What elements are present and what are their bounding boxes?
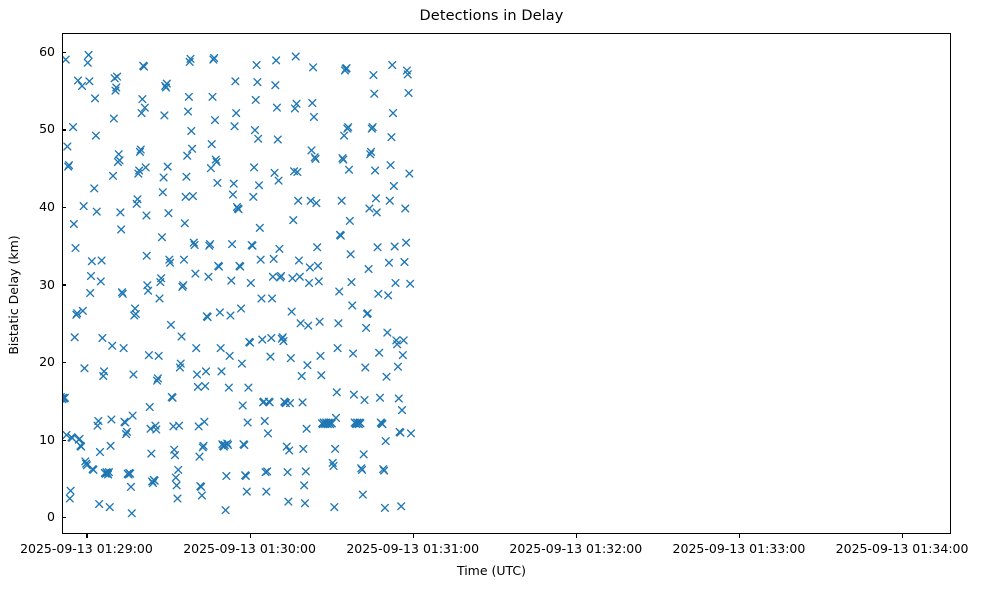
scatter-marker bbox=[257, 256, 264, 263]
scatter-marker bbox=[70, 221, 77, 228]
plot-area bbox=[62, 33, 951, 534]
scatter-marker bbox=[374, 244, 381, 251]
scatter-marker bbox=[165, 210, 172, 217]
scatter-marker bbox=[172, 474, 179, 481]
scatter-marker bbox=[259, 336, 266, 343]
scatter-marker bbox=[256, 224, 263, 231]
scatter-marker bbox=[231, 123, 238, 130]
scatter-marker bbox=[311, 114, 318, 121]
scatter-marker bbox=[284, 469, 291, 476]
scatter-marker bbox=[276, 245, 283, 252]
scatter-marker bbox=[243, 488, 250, 495]
scatter-marker bbox=[336, 288, 343, 295]
scatter-marker bbox=[99, 335, 106, 342]
scatter-marker bbox=[230, 191, 237, 198]
scatter-marker bbox=[148, 450, 155, 457]
scatter-marker bbox=[392, 280, 399, 287]
scatter-marker bbox=[365, 266, 372, 273]
scatter-marker bbox=[350, 350, 357, 357]
scatter-marker bbox=[305, 322, 312, 329]
scatter-marker bbox=[395, 363, 402, 370]
scatter-marker bbox=[214, 180, 221, 187]
scatter-marker bbox=[159, 234, 166, 241]
scatter-marker bbox=[228, 277, 235, 284]
x-tick-label: 2025-09-13 01:34:00 bbox=[836, 541, 969, 556]
scatter-marker bbox=[185, 93, 192, 100]
scatter-marker bbox=[230, 180, 237, 187]
scatter-marker bbox=[194, 371, 201, 378]
scatter-marker bbox=[250, 193, 257, 200]
scatter-marker bbox=[96, 501, 103, 508]
scatter-marker bbox=[238, 360, 245, 367]
y-tick-label: 60 bbox=[39, 44, 55, 59]
scatter-marker bbox=[390, 183, 397, 190]
scatter-marker bbox=[383, 373, 390, 380]
scatter-marker bbox=[387, 162, 394, 169]
scatter-marker bbox=[375, 290, 382, 297]
scatter-marker bbox=[92, 95, 99, 102]
scatter-marker bbox=[275, 177, 282, 184]
scatter-marker bbox=[315, 278, 322, 285]
scatter-marker bbox=[405, 90, 412, 97]
scatter-marker bbox=[306, 280, 313, 287]
scatter-marker bbox=[390, 110, 397, 117]
scatter-marker bbox=[289, 275, 296, 282]
scatter-marker bbox=[348, 279, 355, 286]
scatter-marker bbox=[155, 352, 162, 359]
scatter-marker bbox=[85, 52, 92, 59]
scatter-marker bbox=[184, 152, 191, 159]
scatter-marker bbox=[226, 352, 233, 359]
scatter-marker bbox=[316, 318, 323, 325]
scatter-marker bbox=[371, 90, 378, 97]
scatter-marker bbox=[181, 220, 188, 227]
scatter-marker bbox=[296, 273, 303, 280]
scatter-marker bbox=[106, 504, 113, 511]
scatter-marker bbox=[159, 189, 166, 196]
scatter-marker bbox=[317, 352, 324, 359]
scatter-marker bbox=[377, 394, 384, 401]
scatter-marker bbox=[407, 280, 414, 287]
scatter-marker bbox=[309, 100, 316, 107]
scatter-marker bbox=[188, 128, 195, 135]
scatter-marker bbox=[295, 197, 302, 204]
scatter-marker bbox=[196, 453, 203, 460]
scatter-marker bbox=[117, 209, 124, 216]
scatter-marker bbox=[63, 56, 69, 63]
scatter-marker bbox=[208, 141, 215, 148]
scatter-marker bbox=[146, 404, 153, 411]
scatter-marker bbox=[114, 73, 121, 80]
scatter-marker bbox=[402, 205, 409, 212]
scatter-marker bbox=[239, 402, 246, 409]
scatter-marker bbox=[341, 132, 348, 139]
scatter-marker bbox=[110, 115, 117, 122]
scatter-marker bbox=[145, 287, 152, 294]
scatter-marker bbox=[256, 182, 263, 189]
scatter-marker bbox=[88, 258, 95, 265]
scatter-marker bbox=[245, 384, 252, 391]
scatter-marker bbox=[217, 345, 224, 352]
scatter-marker bbox=[223, 473, 230, 480]
scatter-marker bbox=[75, 77, 82, 84]
scatter-marker bbox=[333, 414, 340, 421]
scatter-marker bbox=[79, 307, 86, 314]
scatter-marker bbox=[254, 79, 261, 86]
scatter-marker bbox=[296, 257, 303, 264]
scatter-marker bbox=[107, 442, 114, 449]
scatter-marker bbox=[384, 329, 391, 336]
scatter-marker bbox=[129, 412, 136, 419]
scatter-marker bbox=[274, 136, 281, 143]
scatter-marker bbox=[346, 218, 353, 225]
scatter-marker bbox=[120, 345, 127, 352]
scatter-marker bbox=[79, 83, 86, 90]
scatter-marker bbox=[366, 205, 373, 212]
scatter-marker bbox=[190, 193, 197, 200]
scatter-marker bbox=[335, 320, 342, 327]
scatter-marker bbox=[95, 418, 102, 425]
scatter-marker bbox=[168, 321, 175, 328]
y-tick-label: 20 bbox=[39, 354, 55, 369]
x-tick-label: 2025-09-13 01:31:00 bbox=[346, 541, 479, 556]
scatter-marker bbox=[72, 245, 79, 252]
scatter-marker bbox=[370, 72, 377, 79]
scatter-marker bbox=[67, 487, 74, 494]
scatter-marker bbox=[318, 372, 325, 379]
x-tick-label: 2025-09-13 01:30:00 bbox=[183, 541, 316, 556]
scatter-marker bbox=[232, 78, 239, 85]
scatter-marker bbox=[97, 449, 104, 456]
scatter-marker bbox=[386, 259, 393, 266]
scatter-marker bbox=[292, 53, 299, 60]
y-tick-label: 50 bbox=[39, 121, 55, 136]
matplotlib-figure: Detections in Delay Bistatic Delay (km) … bbox=[0, 0, 983, 590]
scatter-marker bbox=[403, 239, 410, 246]
scatter-marker bbox=[258, 295, 265, 302]
scatter-marker bbox=[70, 124, 77, 131]
y-tick-label: 30 bbox=[39, 277, 55, 292]
scatter-marker bbox=[252, 97, 259, 104]
scatter-marker bbox=[161, 112, 168, 119]
scatter-series bbox=[63, 34, 951, 534]
x-tick-mark bbox=[250, 534, 251, 538]
scatter-marker bbox=[143, 252, 150, 259]
x-tick-mark bbox=[576, 534, 577, 538]
scatter-marker bbox=[233, 110, 240, 117]
scatter-marker bbox=[406, 170, 413, 177]
scatter-marker bbox=[349, 302, 356, 309]
scatter-marker bbox=[98, 257, 105, 264]
scatter-marker bbox=[80, 203, 87, 210]
scatter-marker bbox=[66, 495, 73, 502]
scatter-marker bbox=[267, 353, 274, 360]
y-tick-label: 40 bbox=[39, 199, 55, 214]
scatter-marker bbox=[362, 364, 369, 371]
scatter-marker bbox=[139, 96, 146, 103]
scatter-marker bbox=[263, 488, 270, 495]
scatter-marker bbox=[304, 362, 311, 369]
scatter-marker bbox=[302, 500, 309, 507]
scatter-marker bbox=[287, 355, 294, 362]
scatter-marker bbox=[269, 273, 276, 280]
scatter-marker bbox=[142, 164, 149, 171]
scatter-marker bbox=[205, 273, 212, 280]
scatter-marker bbox=[128, 510, 135, 517]
scatter-marker bbox=[238, 305, 245, 312]
scatter-marker bbox=[391, 243, 398, 250]
scatter-marker bbox=[185, 108, 192, 115]
scatter-marker bbox=[178, 333, 185, 340]
scatter-marker bbox=[109, 342, 116, 349]
scatter-marker bbox=[134, 196, 141, 203]
scatter-marker bbox=[181, 256, 188, 263]
scatter-marker bbox=[156, 295, 163, 302]
scatter-marker bbox=[146, 352, 153, 359]
scatter-marker bbox=[247, 280, 254, 287]
x-tick-label: 2025-09-13 01:32:00 bbox=[509, 541, 642, 556]
scatter-marker bbox=[401, 259, 408, 266]
scatter-marker bbox=[192, 270, 199, 277]
y-tick-label: 0 bbox=[47, 509, 55, 524]
x-tick-label: 2025-09-13 01:29:00 bbox=[20, 541, 153, 556]
scatter-marker bbox=[189, 145, 196, 152]
scatter-marker bbox=[288, 308, 295, 315]
scatter-marker bbox=[350, 391, 357, 398]
scatter-marker bbox=[398, 503, 405, 510]
scatter-marker bbox=[363, 325, 370, 332]
scatter-marker bbox=[175, 466, 182, 473]
scatter-marker bbox=[359, 491, 366, 498]
scatter-marker bbox=[87, 290, 94, 297]
scatter-marker bbox=[399, 352, 406, 359]
scatter-marker bbox=[130, 371, 137, 378]
scatter-marker bbox=[199, 492, 206, 499]
scatter-marker bbox=[332, 446, 339, 453]
scatter-marker bbox=[299, 399, 306, 406]
scatter-marker bbox=[273, 57, 280, 64]
scatter-marker bbox=[338, 197, 345, 204]
scatter-marker bbox=[373, 209, 380, 216]
scatter-marker bbox=[201, 418, 208, 425]
scatter-marker bbox=[290, 217, 297, 224]
scatter-marker bbox=[251, 164, 258, 171]
y-axis-label: Bistatic Delay (km) bbox=[6, 235, 21, 354]
scatter-marker bbox=[93, 208, 100, 215]
scatter-marker bbox=[315, 262, 322, 269]
scatter-marker bbox=[303, 425, 310, 432]
scatter-marker bbox=[376, 349, 383, 356]
scatter-marker bbox=[333, 389, 340, 396]
scatter-marker bbox=[314, 244, 321, 251]
x-tick-label: 2025-09-13 01:33:00 bbox=[673, 541, 806, 556]
scatter-marker bbox=[287, 400, 294, 407]
scatter-marker bbox=[331, 504, 338, 511]
scatter-marker bbox=[108, 416, 115, 423]
scatter-marker bbox=[385, 292, 392, 299]
scatter-marker bbox=[110, 173, 117, 180]
x-tick-mark bbox=[902, 534, 903, 538]
scatter-marker bbox=[81, 365, 88, 372]
scatter-marker bbox=[270, 256, 277, 263]
scatter-marker bbox=[91, 185, 98, 192]
scatter-marker bbox=[285, 498, 292, 505]
x-tick-mark bbox=[739, 534, 740, 538]
scatter-marker bbox=[222, 507, 229, 514]
scatter-marker bbox=[346, 166, 353, 173]
scatter-marker bbox=[212, 117, 219, 124]
scatter-marker bbox=[261, 418, 268, 425]
x-axis-label: Time (UTC) bbox=[0, 563, 983, 578]
scatter-marker bbox=[388, 134, 395, 141]
scatter-marker bbox=[313, 200, 320, 207]
scatter-marker bbox=[300, 446, 307, 453]
x-tick-mark bbox=[413, 534, 414, 538]
scatter-marker bbox=[347, 251, 354, 258]
scatter-marker bbox=[216, 309, 223, 316]
scatter-marker bbox=[71, 334, 78, 341]
scatter-marker bbox=[395, 395, 402, 402]
scatter-marker bbox=[399, 407, 406, 414]
scatter-marker bbox=[400, 337, 407, 344]
scatter-marker bbox=[389, 62, 396, 69]
scatter-marker bbox=[88, 273, 95, 280]
scatter-marker bbox=[174, 495, 181, 502]
scatter-marker bbox=[308, 147, 315, 154]
scatter-marker bbox=[408, 430, 415, 437]
scatter-marker bbox=[173, 482, 180, 489]
scatter-marker bbox=[193, 345, 200, 352]
scatter-marker bbox=[298, 373, 305, 380]
scatter-marker bbox=[101, 368, 108, 375]
scatter-marker bbox=[218, 368, 225, 375]
scatter-marker bbox=[97, 278, 104, 285]
scatter-marker bbox=[183, 173, 190, 180]
scatter-marker bbox=[64, 143, 71, 150]
scatter-marker bbox=[194, 383, 201, 390]
scatter-marker bbox=[182, 193, 189, 200]
scatter-marker bbox=[269, 295, 276, 302]
scatter-marker bbox=[255, 135, 262, 142]
scatter-marker bbox=[229, 241, 236, 248]
scatter-marker bbox=[84, 59, 91, 66]
scatter-marker bbox=[386, 197, 393, 204]
scatter-marker bbox=[310, 64, 317, 71]
scatter-marker bbox=[253, 62, 260, 69]
scatter-marker bbox=[272, 82, 279, 89]
scatter-marker bbox=[143, 212, 150, 219]
scatter-marker bbox=[164, 163, 171, 170]
scatter-marker bbox=[381, 504, 388, 511]
scatter-marker bbox=[128, 484, 135, 491]
scatter-marker bbox=[301, 482, 308, 489]
scatter-marker bbox=[202, 383, 209, 390]
scatter-marker bbox=[361, 397, 368, 404]
scatter-marker bbox=[372, 167, 379, 174]
scatter-marker bbox=[118, 226, 125, 233]
scatter-marker bbox=[227, 312, 234, 319]
scatter-marker bbox=[360, 451, 367, 458]
scatter-marker bbox=[334, 345, 341, 352]
scatter-marker bbox=[373, 195, 380, 202]
scatter-marker bbox=[382, 438, 389, 445]
scatter-marker bbox=[172, 452, 179, 459]
scatter-marker bbox=[274, 104, 281, 111]
scatter-marker bbox=[92, 132, 99, 139]
scatter-marker bbox=[271, 169, 278, 176]
scatter-marker bbox=[265, 430, 272, 437]
chart-title: Detections in Delay bbox=[0, 8, 983, 24]
scatter-marker bbox=[268, 335, 275, 342]
scatter-marker bbox=[244, 419, 251, 426]
scatter-marker bbox=[209, 93, 216, 100]
scatter-marker bbox=[306, 264, 313, 271]
scatter-marker bbox=[225, 384, 232, 391]
scatter-marker bbox=[176, 422, 183, 429]
scatter-marker bbox=[203, 368, 210, 375]
scatter-marker bbox=[302, 468, 309, 475]
x-tick-mark bbox=[86, 534, 87, 538]
y-tick-label: 10 bbox=[39, 432, 55, 447]
scatter-marker bbox=[307, 197, 314, 204]
scatter-marker bbox=[160, 174, 167, 181]
scatter-marker bbox=[252, 127, 259, 134]
scatter-marker bbox=[297, 320, 304, 327]
scatter-marker bbox=[195, 423, 202, 430]
scatter-marker bbox=[86, 78, 93, 85]
